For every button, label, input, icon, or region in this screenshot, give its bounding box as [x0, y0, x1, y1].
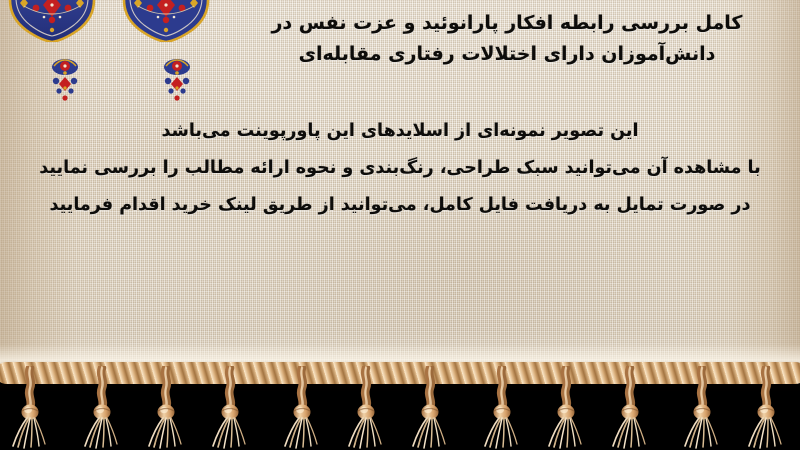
carpet-tassel-icon [10, 366, 56, 450]
carpet-tassel-icon [477, 366, 523, 450]
carpet-tassel-icon [544, 366, 590, 450]
slide-title-line-2: دانش‌آموزان دارای اختلالات رفتاری مقابله… [250, 39, 764, 70]
slide-title-line-1: کامل بررسی رابطه افکار پارانوئید و عزت ن… [250, 8, 764, 39]
slide-canvas: کامل بررسی رابطه افکار پارانوئید و عزت ن… [0, 0, 800, 450]
carpet-knotted-fringe [0, 366, 800, 450]
persian-carpet-medallion-icon [122, 0, 210, 42]
persian-carpet-pendant-icon [160, 58, 194, 104]
carpet-tassel-icon [277, 366, 323, 450]
carpet-tassel-icon [210, 366, 256, 450]
carpet-tassel-icon [744, 366, 790, 450]
carpet-tassel-icon [410, 366, 456, 450]
persian-carpet-medallion-icon [8, 0, 96, 42]
slide-body-line-3: در صورت تمایل به دریافت فایل کامل، می‌تو… [14, 187, 786, 224]
persian-carpet-pendant-icon [48, 58, 82, 104]
carpet-tassel-icon [77, 366, 123, 450]
carpet-tassel-icon [610, 366, 656, 450]
slide-body-line-2: با مشاهده آن می‌توانید سبک طراحی، رنگ‌بن… [14, 150, 786, 187]
carpet-tassel-icon [677, 366, 723, 450]
slide-body-text: این تصویر نمونه‌ای از اسلایدهای این پاور… [14, 113, 786, 224]
slide-title: کامل بررسی رابطه افکار پارانوئید و عزت ن… [250, 8, 764, 70]
slide-body-line-1: این تصویر نمونه‌ای از اسلایدهای این پاور… [14, 113, 786, 150]
carpet-tassel-icon [144, 366, 190, 450]
carpet-tassel-icon [344, 366, 390, 450]
